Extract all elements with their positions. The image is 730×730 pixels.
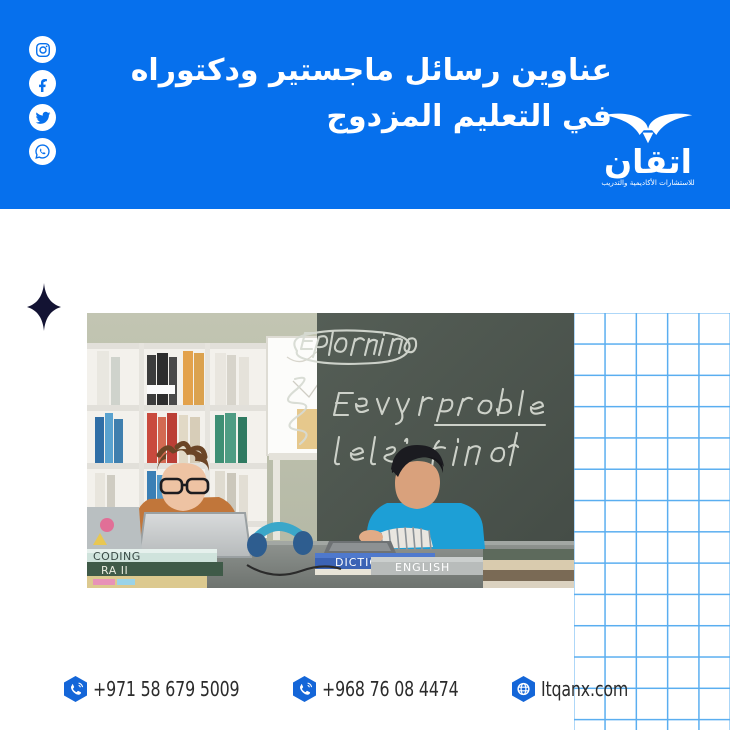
header-banner: عناوين رسائل ماجستير ودكتوراه في التعليم… (0, 0, 730, 209)
graph-grid-decoration (574, 313, 730, 730)
svg-text:RA II: RA II (101, 564, 128, 577)
phone-icon (293, 676, 316, 702)
instagram-icon (35, 42, 51, 58)
facebook-icon (35, 76, 51, 92)
contact-phone-uae-value: +971 58 679 5009 (93, 677, 239, 701)
headline-line-2: في التعليم المزدوج (112, 94, 612, 140)
brand-logo[interactable]: اتقان للاستشارات الأكاديمية والتدريب (584, 112, 712, 187)
poster-headline: عناوين رسائل ماجستير ودكتوراه في التعليم… (112, 48, 612, 139)
headline-line-1: عناوين رسائل ماجستير ودكتوراه (131, 53, 612, 88)
twitter-icon (35, 110, 51, 126)
contact-phone-oman-value: +968 76 08 4474 (322, 677, 459, 701)
brand-wordmark: اتقان (584, 147, 712, 177)
globe-icon (512, 676, 535, 702)
brand-tagline: للاستشارات الأكاديمية والتدريب (584, 179, 712, 187)
contact-website-value: Itqanx.com (541, 677, 628, 701)
social-links-rail (29, 36, 57, 165)
social-link-twitter[interactable] (29, 104, 56, 131)
social-link-facebook[interactable] (29, 70, 56, 97)
social-link-whatsapp[interactable] (29, 138, 56, 165)
poster-canvas: عناوين رسائل ماجستير ودكتوراه في التعليم… (0, 0, 730, 730)
whatsapp-icon (34, 143, 51, 160)
social-link-instagram[interactable] (29, 36, 56, 63)
contact-bar: +971 58 679 5009 +968 76 08 4474 (64, 672, 640, 706)
classroom-photo: CODING RA II DICTIONARY ENGLISH (87, 313, 574, 588)
contact-website[interactable]: Itqanx.com (512, 676, 640, 702)
sparkle-icon (27, 283, 61, 331)
svg-text:ENGLISH: ENGLISH (395, 561, 450, 574)
contact-phone-oman[interactable]: +968 76 08 4474 (293, 676, 477, 702)
contact-phone-uae[interactable]: +971 58 679 5009 (64, 676, 259, 702)
phone-icon (64, 676, 87, 702)
svg-text:CODING: CODING (93, 550, 141, 563)
